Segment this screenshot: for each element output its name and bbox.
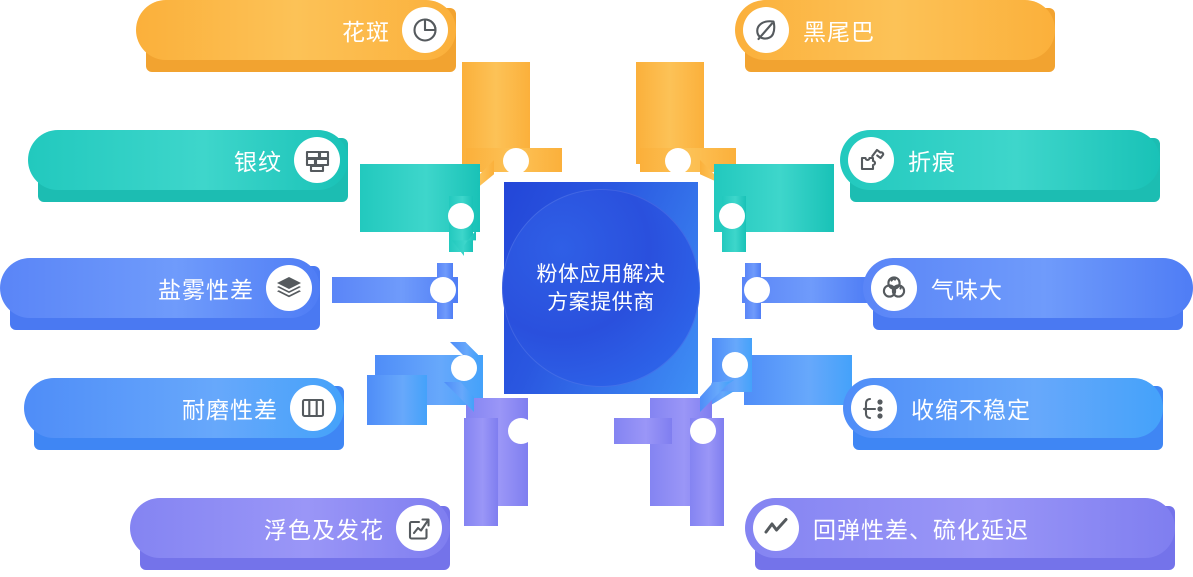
connector-left-5-tail [464,418,498,526]
map-book-icon [290,385,336,431]
trend-up-box-icon [396,505,442,551]
connector-left-4-tail [367,375,427,425]
item-left-1[interactable]: 花斑 [136,0,456,60]
item-left-1-label: 花斑 [342,13,390,47]
node-dot-right-3 [744,277,770,303]
item-right-5-label: 回弹性差、硫化延迟 [813,511,1029,545]
center-hub: 粉体应用解决 方案提供商 [504,182,698,394]
item-right-4[interactable]: 收缩不稳定 [843,378,1163,438]
center-hub-label: 粉体应用解决 方案提供商 [504,182,698,394]
item-left-3-label: 盐雾性差 [158,271,254,305]
puzzle-icon [848,137,894,183]
item-right-1[interactable]: 黑尾巴 [735,0,1055,60]
item-right-5[interactable]: 回弹性差、硫化延迟 [745,498,1175,558]
item-left-2-label: 银纹 [234,143,282,177]
node-dot-left-5 [508,418,534,444]
connector-right-4 [744,355,852,405]
diagram-canvas: 粉体应用解决 方案提供商 花斑 银纹 [0,0,1193,577]
brick-wall-icon [294,137,340,183]
item-left-5-label: 浮色及发花 [264,511,384,545]
node-dot-right-2 [719,203,745,229]
item-right-1-label: 黑尾巴 [803,13,875,47]
sitemap-icon [851,385,897,431]
node-dot-left-3 [430,277,456,303]
item-right-2[interactable]: 折痕 [840,130,1160,190]
connector-right-5-stub [614,418,672,444]
item-right-3-label: 气味大 [931,271,1003,305]
item-left-4[interactable]: 耐磨性差 [24,378,344,438]
node-dot-right-4 [722,352,748,378]
layers-icon [266,265,312,311]
item-left-3[interactable]: 盐雾性差 [0,258,320,318]
node-dot-right-1 [665,148,691,174]
item-right-2-label: 折痕 [908,143,956,177]
item-left-2[interactable]: 银纹 [28,130,348,190]
item-left-4-label: 耐磨性差 [182,391,278,425]
node-dot-left-1 [503,148,529,174]
item-right-4-label: 收缩不稳定 [911,391,1031,425]
item-right-3[interactable]: 气味大 [863,258,1193,318]
arrow-right-5 [700,382,730,412]
item-left-5[interactable]: 浮色及发花 [130,498,450,558]
leaf-icon [743,7,789,53]
recycle-icon [871,265,917,311]
line-chart-icon [753,505,799,551]
node-dot-right-5 [690,418,716,444]
node-dot-left-2 [448,203,474,229]
node-dot-left-4 [451,355,477,381]
pie-chart-icon [402,7,448,53]
